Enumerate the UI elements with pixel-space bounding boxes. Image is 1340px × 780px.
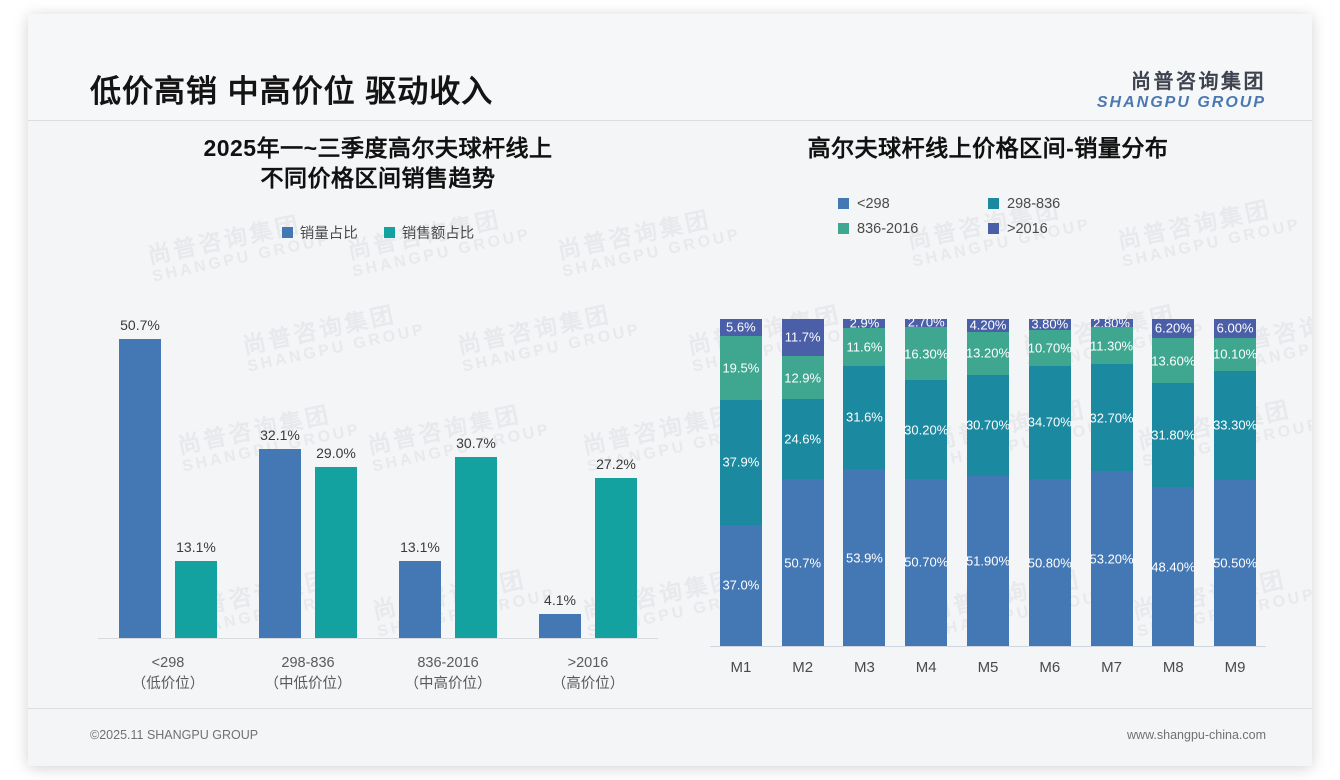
stack-segment-label: 6.00% xyxy=(1217,320,1254,335)
x-axis-label: M4 xyxy=(895,659,957,676)
x-axis-label-range: 836-2016 xyxy=(378,653,518,674)
stack-segment-2016[interactable]: 4.20% xyxy=(967,319,1009,332)
legend-label: 销量占比 xyxy=(300,222,358,243)
stack-segment-298[interactable]: 50.70% xyxy=(905,479,947,645)
x-axis-label: M1 xyxy=(710,659,772,676)
legend-swatch-icon xyxy=(988,198,999,209)
left-chart-panel: 2025年一~三季度高尔夫球杆线上 不同价格区间销售趋势 销量占比 销售额占比 … xyxy=(68,134,688,694)
footer-copyright: ©2025.11 SHANGPU GROUP xyxy=(90,728,258,742)
stack-segment-label: 37.0% xyxy=(722,578,759,593)
stack-segment-label: 11.6% xyxy=(846,339,882,354)
stack-segment-label: 31.80% xyxy=(1151,428,1195,443)
bar-value-label: 30.7% xyxy=(456,435,496,451)
left-chart-title-line2: 不同价格区间销售趋势 xyxy=(68,164,688,194)
stack-segment-2016[interactable]: 2.70% xyxy=(905,319,947,327)
stack-segment-label: 4.20% xyxy=(970,319,1007,332)
stack-segment-2016[interactable]: 3.80% xyxy=(1029,319,1071,330)
stack-segment-2016[interactable]: 5.6% xyxy=(720,319,762,336)
stack-segment-label: 6.20% xyxy=(1155,321,1192,336)
stack-segment-298-836[interactable]: 24.6% xyxy=(782,399,824,480)
x-axis-label: 298-836（中低价位） xyxy=(238,653,378,695)
brand-logo: 尚普咨询集团 SHANGPU GROUP xyxy=(1097,72,1266,111)
stack-segment-label: 53.20% xyxy=(1090,551,1134,566)
stack-segment-label: 5.6% xyxy=(726,320,756,335)
legend-swatch-icon xyxy=(988,223,999,234)
stack-segment-label: 34.70% xyxy=(1028,415,1072,430)
stack-segment-298[interactable]: 51.90% xyxy=(967,476,1009,646)
stack-segment-label: 50.7% xyxy=(784,555,821,570)
legend-swatch-icon xyxy=(384,227,395,238)
stack-segment-836-2016[interactable]: 19.5% xyxy=(720,336,762,400)
bar-fill xyxy=(399,561,441,638)
bar-fill xyxy=(259,449,301,638)
footer-website[interactable]: www.shangpu-china.com xyxy=(1127,728,1266,742)
bar-fill xyxy=(595,478,637,638)
legend-swatch-icon xyxy=(838,223,849,234)
stack-segment-label: 51.90% xyxy=(966,553,1010,568)
x-axis-label: M2 xyxy=(772,659,834,676)
stack-segment-2016[interactable]: 2.80% xyxy=(1091,319,1133,327)
bar-group: 32.1%29.0% xyxy=(238,309,378,638)
x-axis-label: M7 xyxy=(1081,659,1143,676)
stacked-bar[interactable]: 4.20%13.20%30.70%51.90% xyxy=(967,319,1009,646)
bar-group: 13.1%30.7% xyxy=(378,309,518,638)
right-plot-clip: 5.6%19.5%37.9%37.0%11.7%12.9%24.6%50.7%2… xyxy=(710,319,1266,646)
bar-sales-amount[interactable]: 30.7% xyxy=(455,457,497,638)
slide-footer: ©2025.11 SHANGPU GROUP www.shangpu-china… xyxy=(28,708,1312,766)
bar-value-label: 32.1% xyxy=(260,427,300,443)
bar-value-label: 29.0% xyxy=(316,445,356,461)
stack-segment-298-836[interactable]: 33.30% xyxy=(1214,371,1256,480)
stack-segment-298[interactable]: 53.20% xyxy=(1091,471,1133,645)
stack-segment-836-2016[interactable]: 16.30% xyxy=(905,327,947,380)
stack-segment-298[interactable]: 53.9% xyxy=(843,469,885,646)
stack-segment-label: 50.50% xyxy=(1213,555,1257,570)
stacked-bar[interactable]: 2.9%11.6%31.6%53.9% xyxy=(843,319,885,646)
slide-canvas: 低价高销 中高价位 驱动收入 尚普咨询集团 SHANGPU GROUP 尚普咨询… xyxy=(28,14,1312,766)
stack-segment-label: 19.5% xyxy=(722,361,759,376)
stack-segment-label: 37.9% xyxy=(722,455,759,470)
x-axis-label: M8 xyxy=(1142,659,1204,676)
legend-item-836-2016[interactable]: 836-2016 xyxy=(838,221,988,237)
bar-sales-amount[interactable]: 29.0% xyxy=(315,467,357,638)
left-x-axis-labels: <298（低价位）298-836（中低价位）836-2016（中高价位）>201… xyxy=(98,645,658,695)
stack-segment-label: 50.80% xyxy=(1028,555,1072,570)
bar-fill xyxy=(539,614,581,638)
x-axis-label-range: 298-836 xyxy=(238,653,378,674)
stacked-bar[interactable]: 6.20%13.60%31.80%48.40% xyxy=(1152,319,1194,646)
legend-label: 298-836 xyxy=(1007,196,1060,212)
right-x-axis-labels: M1M2M3M4M5M6M7M8M9 xyxy=(710,653,1266,683)
bar-sales-volume[interactable]: 50.7% xyxy=(119,339,161,638)
x-axis-label-tier: （高价位） xyxy=(518,674,658,695)
bar-group: 4.1%27.2% xyxy=(518,309,658,638)
stack-segment-label: 13.20% xyxy=(966,346,1010,361)
bar-sales-volume[interactable]: 4.1% xyxy=(539,614,581,638)
stack-segment-836-2016[interactable]: 11.30% xyxy=(1091,327,1133,364)
stack-segment-298-836[interactable]: 30.20% xyxy=(905,380,947,479)
legend-item-sales-volume[interactable]: 销量占比 xyxy=(282,222,358,243)
bar-value-label: 50.7% xyxy=(120,317,160,333)
right-stacked-bar-chart: 5.6%19.5%37.9%37.0%11.7%12.9%24.6%50.7%2… xyxy=(698,319,1278,694)
stack-segment-label: 12.9% xyxy=(784,370,821,385)
legend-swatch-icon xyxy=(838,198,849,209)
stacked-bar[interactable]: 5.6%19.5%37.9%37.0% xyxy=(720,319,762,646)
bar-fill xyxy=(175,561,217,638)
stack-segment-298-836[interactable]: 32.70% xyxy=(1091,364,1133,471)
bar-value-label: 4.1% xyxy=(544,592,576,608)
stack-segment-label: 11.7% xyxy=(785,330,821,345)
stack-segment-2016[interactable]: 11.7% xyxy=(782,319,824,356)
stacked-bar[interactable]: 2.80%11.30%32.70%53.20% xyxy=(1091,319,1133,646)
stack-segment-label: 11.30% xyxy=(1090,338,1133,353)
stack-segment-label: 10.70% xyxy=(1028,341,1072,356)
logo-english-text: SHANGPU GROUP xyxy=(1097,94,1266,111)
stacked-bar[interactable]: 6.00%10.10%33.30%50.50% xyxy=(1214,319,1256,646)
x-axis-label: M5 xyxy=(957,659,1019,676)
page-title: 低价高销 中高价位 驱动收入 xyxy=(90,76,493,107)
legend-item-sales-amount[interactable]: 销售额占比 xyxy=(384,222,475,243)
stack-segment-836-2016[interactable]: 10.70% xyxy=(1029,330,1071,365)
legend-item-298[interactable]: <298 xyxy=(838,196,988,212)
logo-chinese-text: 尚普咨询集团 xyxy=(1097,72,1266,94)
bar-sales-amount[interactable]: 13.1% xyxy=(175,561,217,638)
stack-segment-2016[interactable]: 2.9% xyxy=(843,319,885,328)
stack-segment-label: 53.9% xyxy=(846,550,883,565)
x-axis-label-tier: （低价位） xyxy=(98,674,238,695)
stack-segment-label: 10.10% xyxy=(1213,347,1257,362)
legend-label: 836-2016 xyxy=(857,221,918,237)
legend-label: 销售额占比 xyxy=(402,222,475,243)
bar-sales-amount[interactable]: 27.2% xyxy=(595,478,637,638)
stack-segment-label: 13.60% xyxy=(1151,353,1195,368)
legend-swatch-icon xyxy=(282,227,293,238)
legend-item-298-836[interactable]: 298-836 xyxy=(988,196,1138,212)
right-chart-panel: 高尔夫球杆线上价格区间-销量分布 <298298-836836-2016>201… xyxy=(698,134,1278,694)
stack-segment-298[interactable]: 48.40% xyxy=(1152,487,1194,646)
stack-segment-836-2016[interactable]: 11.6% xyxy=(843,328,885,366)
stack-segment-label: 50.70% xyxy=(904,555,948,570)
x-axis-label-tier: （中低价位） xyxy=(238,674,378,695)
stack-segment-298-836[interactable]: 30.70% xyxy=(967,375,1009,476)
bar-sales-volume[interactable]: 32.1% xyxy=(259,449,301,638)
stack-segment-label: 48.40% xyxy=(1151,559,1195,574)
left-chart-title: 2025年一~三季度高尔夫球杆线上 不同价格区间销售趋势 xyxy=(68,134,688,194)
bar-fill xyxy=(315,467,357,638)
bar-value-label: 13.1% xyxy=(400,539,440,555)
x-axis-label: 836-2016（中高价位） xyxy=(378,653,518,695)
bar-fill xyxy=(455,457,497,638)
bar-sales-volume[interactable]: 13.1% xyxy=(399,561,441,638)
stacked-bar[interactable]: 2.70%16.30%30.20%50.70% xyxy=(905,319,947,646)
stack-segment-298[interactable]: 50.7% xyxy=(782,479,824,645)
x-axis-label-tier: （中高价位） xyxy=(378,674,518,695)
x-axis-label: >2016（高价位） xyxy=(518,653,658,695)
stack-segment-836-2016[interactable]: 13.20% xyxy=(967,332,1009,375)
legend-item-2016[interactable]: >2016 xyxy=(988,221,1138,237)
stack-segment-label: 32.70% xyxy=(1090,410,1134,425)
stacked-bar[interactable]: 3.80%10.70%34.70%50.80% xyxy=(1029,319,1071,646)
stack-segment-label: 30.70% xyxy=(966,418,1010,433)
stack-segment-label: 30.20% xyxy=(904,422,948,437)
left-plot-area: 50.7%13.1%32.1%29.0%13.1%30.7%4.1%27.2% xyxy=(98,309,658,639)
x-axis-label: M6 xyxy=(1019,659,1081,676)
x-axis-label: M3 xyxy=(834,659,896,676)
stack-segment-label: 31.6% xyxy=(846,410,883,425)
stack-segment-836-2016[interactable]: 12.9% xyxy=(782,356,824,398)
bar-value-label: 13.1% xyxy=(176,539,216,555)
stack-segment-298[interactable]: 50.50% xyxy=(1214,480,1256,646)
x-axis-label: M9 xyxy=(1204,659,1266,676)
left-chart-title-line1: 2025年一~三季度高尔夫球杆线上 xyxy=(68,134,688,164)
left-grouped-bar-chart: 50.7%13.1%32.1%29.0%13.1%30.7%4.1%27.2% … xyxy=(68,309,688,694)
stack-segment-836-2016[interactable]: 10.10% xyxy=(1214,338,1256,371)
stack-segment-298[interactable]: 37.0% xyxy=(720,525,762,646)
right-plot-area: 5.6%19.5%37.9%37.0%11.7%12.9%24.6%50.7%2… xyxy=(710,319,1266,647)
stack-segment-298-836[interactable]: 34.70% xyxy=(1029,366,1071,480)
legend-label: >2016 xyxy=(1007,221,1048,237)
stack-segment-label: 33.30% xyxy=(1213,418,1257,433)
stack-segment-836-2016[interactable]: 13.60% xyxy=(1152,338,1194,383)
right-chart-legend: <298298-836836-2016>2016 xyxy=(838,196,1138,237)
stacked-bar[interactable]: 11.7%12.9%24.6%50.7% xyxy=(782,319,824,646)
legend-label: <298 xyxy=(857,196,890,212)
x-axis-label: <298（低价位） xyxy=(98,653,238,695)
stack-segment-2016[interactable]: 6.00% xyxy=(1214,319,1256,338)
x-axis-label-range: >2016 xyxy=(518,653,658,674)
stack-segment-label: 16.30% xyxy=(904,346,948,361)
stack-segment-label: 24.6% xyxy=(784,432,821,447)
bar-value-label: 27.2% xyxy=(596,456,636,472)
bar-fill xyxy=(119,339,161,638)
stack-segment-298-836[interactable]: 37.9% xyxy=(720,400,762,524)
stack-segment-298-836[interactable]: 31.6% xyxy=(843,366,885,470)
stack-segment-298-836[interactable]: 31.80% xyxy=(1152,383,1194,487)
stack-segment-298[interactable]: 50.80% xyxy=(1029,479,1071,646)
left-chart-legend: 销量占比 销售额占比 xyxy=(68,222,688,243)
x-axis-label-range: <298 xyxy=(98,653,238,674)
bar-group: 50.7%13.1% xyxy=(98,309,238,638)
slide-header: 低价高销 中高价位 驱动收入 尚普咨询集团 SHANGPU GROUP xyxy=(28,14,1312,121)
right-chart-title: 高尔夫球杆线上价格区间-销量分布 xyxy=(698,134,1278,164)
stack-segment-2016[interactable]: 6.20% xyxy=(1152,319,1194,338)
